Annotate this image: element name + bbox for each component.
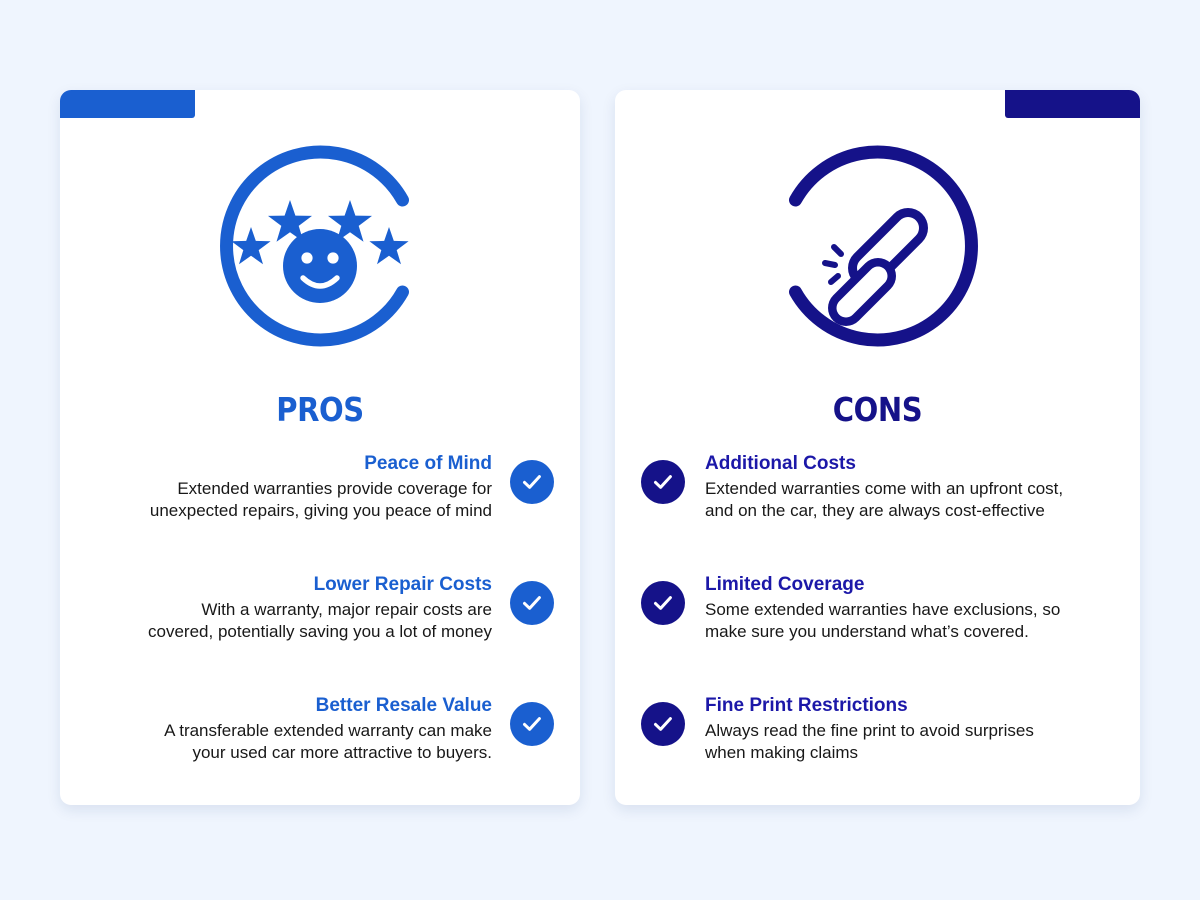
broken-chain-circle-icon <box>762 122 994 370</box>
check-glyph <box>520 591 544 615</box>
cons-icon-wrap <box>615 122 1140 370</box>
item-text: Fine Print Restrictions Always read the … <box>705 694 1034 765</box>
check-glyph <box>651 712 675 736</box>
cons-item-list: Additional Costs Extended warranties com… <box>615 452 1140 765</box>
check-glyph <box>520 712 544 736</box>
list-item: Peace of Mind Extended warranties provid… <box>86 452 554 523</box>
pros-icon-wrap <box>60 122 580 370</box>
check-icon <box>510 702 554 746</box>
check-icon <box>641 581 685 625</box>
check-glyph <box>651 470 675 494</box>
cons-title: CONS <box>647 393 1109 426</box>
check-icon <box>641 460 685 504</box>
item-title: Better Resale Value <box>164 694 492 718</box>
item-title: Additional Costs <box>705 452 1063 476</box>
check-glyph <box>651 591 675 615</box>
list-item: Lower Repair Costs With a warranty, majo… <box>86 573 554 644</box>
item-description: Always read the fine print to avoid surp… <box>705 720 1034 765</box>
pros-item-list: Peace of Mind Extended warranties provid… <box>60 452 580 765</box>
item-description: Extended warranties come with an upfront… <box>705 478 1063 523</box>
item-text: Limited Coverage Some extended warrantie… <box>705 573 1060 644</box>
item-text: Additional Costs Extended warranties com… <box>705 452 1063 523</box>
list-item: Fine Print Restrictions Always read the … <box>641 694 1114 765</box>
item-text: Better Resale Value A transferable exten… <box>164 694 492 765</box>
list-item: Additional Costs Extended warranties com… <box>641 452 1114 523</box>
item-title: Limited Coverage <box>705 573 1060 597</box>
item-text: Lower Repair Costs With a warranty, majo… <box>148 573 492 644</box>
check-icon <box>510 581 554 625</box>
pros-title: PROS <box>91 393 549 426</box>
check-glyph <box>520 470 544 494</box>
item-text: Peace of Mind Extended warranties provid… <box>150 452 492 523</box>
comparison-board: PROS Peace of Mind Extended warranties p… <box>0 0 1200 900</box>
item-description: Some extended warranties have exclusions… <box>705 599 1060 644</box>
check-icon <box>510 460 554 504</box>
check-icon <box>641 702 685 746</box>
cons-card: CONS Additional Costs Extended warrantie… <box>615 90 1140 805</box>
item-title: Lower Repair Costs <box>148 573 492 597</box>
item-title: Peace of Mind <box>150 452 492 476</box>
item-description: With a warranty, major repair costs are … <box>148 599 492 644</box>
item-title: Fine Print Restrictions <box>705 694 1034 718</box>
list-item: Better Resale Value A transferable exten… <box>86 694 554 765</box>
list-item: Limited Coverage Some extended warrantie… <box>641 573 1114 644</box>
item-description: A transferable extended warranty can mak… <box>164 720 492 765</box>
item-description: Extended warranties provide coverage for… <box>150 478 492 523</box>
pros-accent-bar <box>60 90 195 118</box>
smiley-stars-circle-icon <box>204 122 436 370</box>
cons-accent-bar <box>1005 90 1140 118</box>
pros-card: PROS Peace of Mind Extended warranties p… <box>60 90 580 805</box>
